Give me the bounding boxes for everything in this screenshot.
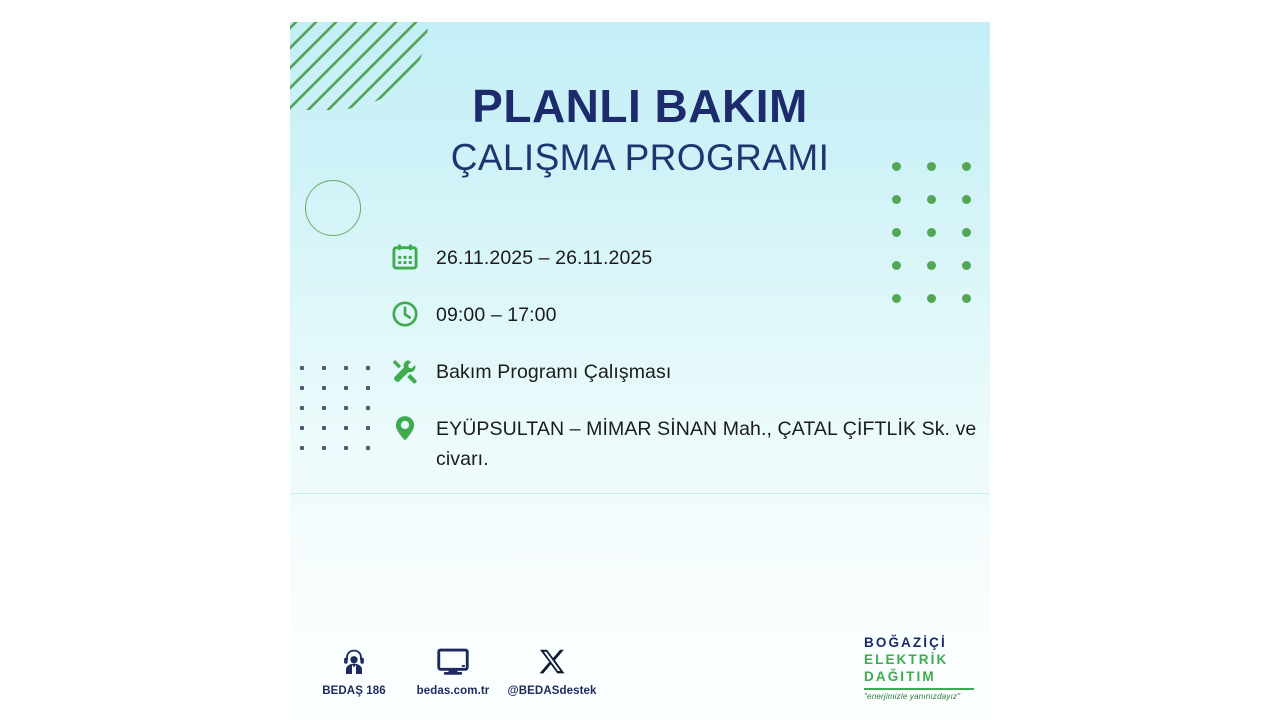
location-pin-icon	[388, 411, 422, 445]
logo-line-elektrik: ELEKTRİK	[864, 651, 976, 668]
poster-stage: PLANLI BAKIM ÇALIŞMA PROGRAMI	[0, 0, 1280, 720]
x-twitter-icon	[538, 637, 567, 677]
title-main: PLANLI BAKIM	[290, 82, 990, 132]
title-subtitle: ÇALIŞMA PROGRAMI	[290, 136, 990, 180]
logo-line-dagitim: DAĞITIM	[864, 668, 976, 685]
info-row-location: EYÜPSULTAN – MİMAR SİNAN Mah., ÇATAL ÇİF…	[388, 411, 978, 474]
dot-grid-left-decoration	[300, 366, 388, 466]
contact-label-phone: BEDAŞ 186	[322, 685, 386, 697]
contact-item-phone[interactable]: BEDAŞ 186	[308, 637, 400, 697]
contact-label-website: bedas.com.tr	[417, 685, 490, 697]
info-row-time: 09:00 – 17:00	[388, 297, 978, 331]
contact-item-x[interactable]: @BEDASdestek	[506, 637, 598, 697]
monitor-website-icon	[436, 637, 470, 677]
info-text-date: 26.11.2025 – 26.11.2025	[436, 240, 652, 273]
circle-outline-decoration	[305, 180, 361, 236]
logo-underline	[864, 688, 974, 690]
tools-icon	[388, 354, 422, 388]
contact-item-website[interactable]: bedas.com.tr	[407, 637, 499, 697]
page-title: PLANLI BAKIM ÇALIŞMA PROGRAMI	[290, 82, 990, 180]
info-text-work-type: Bakım Programı Çalışması	[436, 354, 671, 387]
info-row-work-type: Bakım Programı Çalışması	[388, 354, 978, 388]
info-row-date: 26.11.2025 – 26.11.2025	[388, 240, 978, 274]
logo-tagline: "enerjimizle yanınızdayız"	[864, 692, 976, 701]
info-text-time: 09:00 – 17:00	[436, 297, 557, 330]
footer-contact-list: BEDAŞ 186 bedas.com.tr	[308, 637, 598, 697]
headset-support-icon	[339, 637, 369, 677]
info-text-location: EYÜPSULTAN – MİMAR SİNAN Mah., ÇATAL ÇİF…	[436, 411, 978, 474]
maintenance-info-list: 26.11.2025 – 26.11.2025 09:00 – 17:00	[388, 240, 978, 474]
bedas-logo: BOĞAZİÇİ ELEKTRİK DAĞITIM "enerjimizle y…	[864, 634, 976, 701]
calendar-icon	[388, 240, 422, 274]
clock-icon	[388, 297, 422, 331]
announcement-card: PLANLI BAKIM ÇALIŞMA PROGRAMI	[290, 22, 990, 720]
contact-label-x: @BEDASdestek	[507, 685, 596, 697]
logo-line-bogazici: BOĞAZİÇİ	[864, 634, 976, 651]
